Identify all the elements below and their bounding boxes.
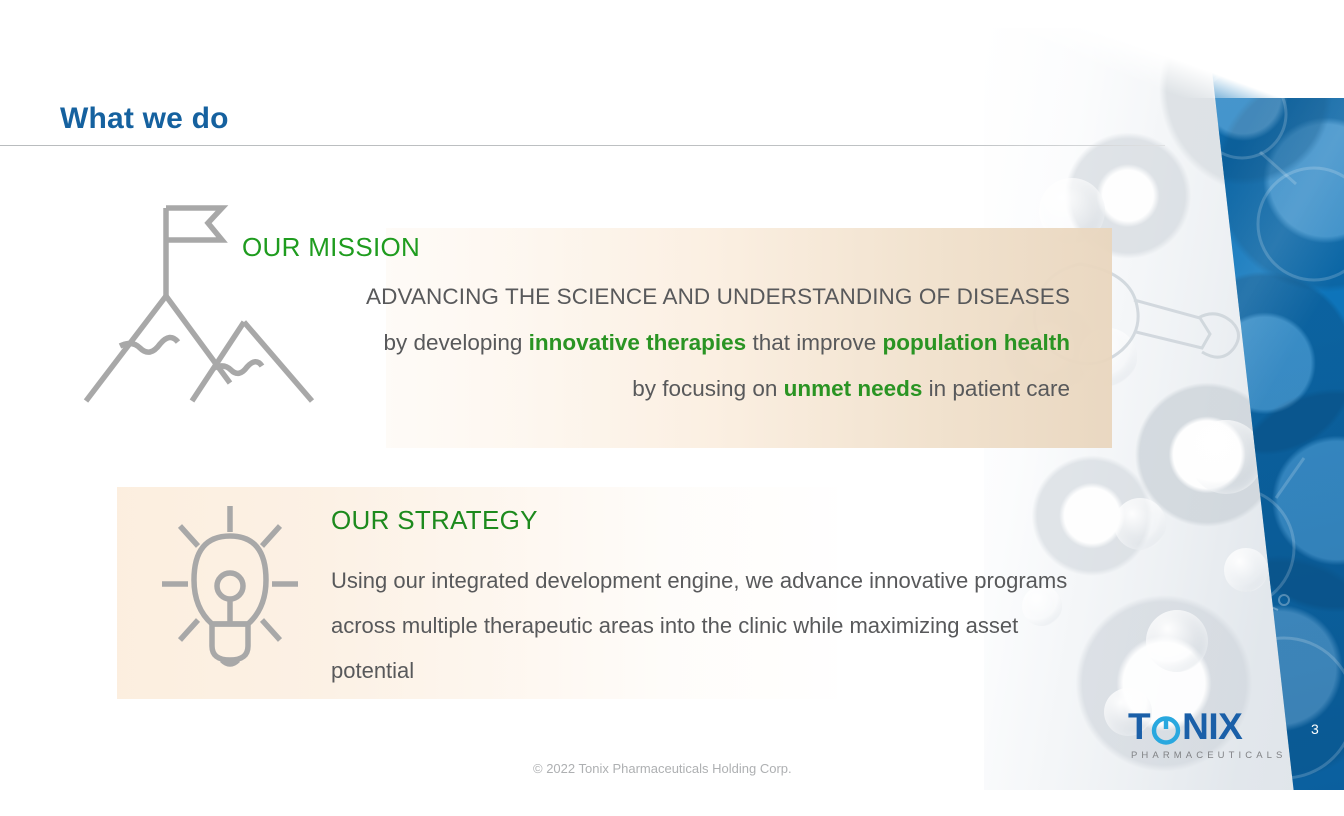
mission-line-2-part1: by developing [384, 330, 529, 355]
slide-canvas: What we do OUR MISSION ADVANCING THE SCI… [0, 0, 1344, 816]
mission-line-3-part2: in patient care [922, 376, 1070, 401]
title-divider [0, 145, 1165, 146]
power-symbol-icon [1151, 712, 1181, 742]
tonix-logo-wordmark: T NIX [1128, 706, 1274, 748]
tonix-logo-subtitle: PHARMACEUTICALS [1128, 750, 1274, 761]
mission-text-block: OUR MISSION ADVANCING THE SCIENCE AND UN… [130, 232, 1070, 412]
mission-highlight-population-health: population health [883, 330, 1070, 355]
bottom-white-margin [0, 790, 1344, 816]
strategy-heading: OUR STRATEGY [331, 505, 1091, 536]
mission-line-2: by developing innovative therapies that … [130, 320, 1070, 366]
page-title: What we do [60, 102, 229, 136]
strategy-body: Using our integrated development engine,… [331, 558, 1076, 693]
tonix-logo: T NIX PHARMACEUTICALS [1128, 706, 1274, 761]
photo-top-fade [984, 28, 1344, 98]
mission-highlight-innovative-therapies: innovative therapies [529, 330, 747, 355]
mission-line-2-part2: that improve [746, 330, 882, 355]
mission-line-1: ADVANCING THE SCIENCE AND UNDERSTANDING … [130, 274, 1070, 320]
mission-heading: OUR MISSION [242, 232, 1070, 263]
top-white-margin [0, 0, 1344, 28]
page-number: 3 [1311, 721, 1319, 737]
mission-line-3: by focusing on unmet needs in patient ca… [130, 366, 1070, 412]
tonix-logo-letters-nix: NIX [1182, 706, 1242, 748]
mission-highlight-unmet-needs: unmet needs [784, 376, 923, 401]
lightbulb-icon [160, 500, 300, 677]
copyright-notice: © 2022 Tonix Pharmaceuticals Holding Cor… [533, 761, 792, 776]
tonix-logo-letter-t: T [1128, 706, 1150, 748]
mission-line-3-part1: by focusing on [632, 376, 783, 401]
strategy-text-block: OUR STRATEGY Using our integrated develo… [331, 505, 1091, 693]
